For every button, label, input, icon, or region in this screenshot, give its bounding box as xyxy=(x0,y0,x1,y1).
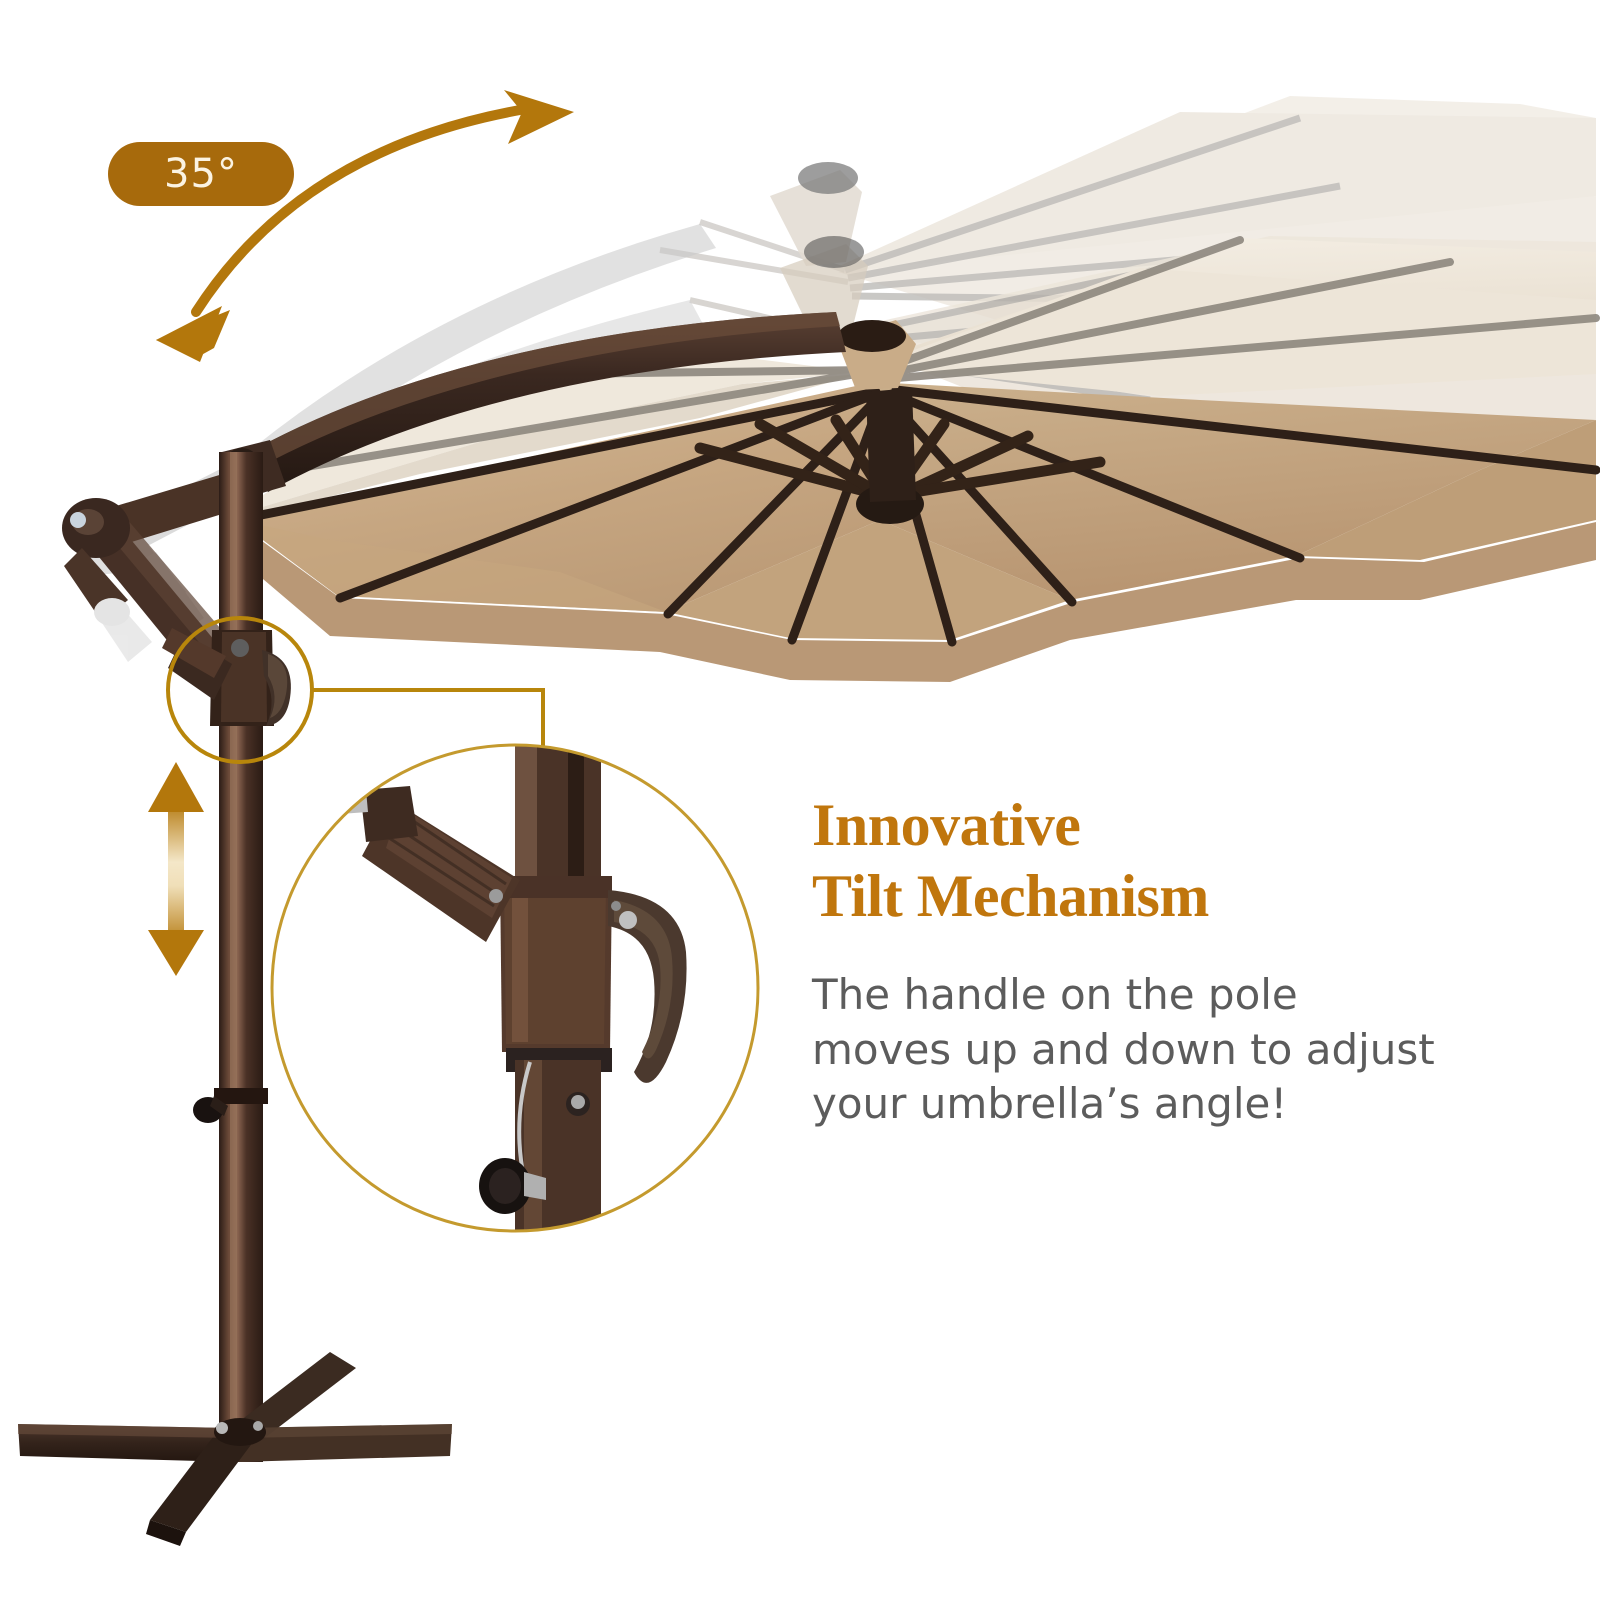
cantilever-arm xyxy=(62,312,846,688)
feature-description-line-2: moves up and down to adjust xyxy=(812,1023,1422,1078)
umbrella-pole xyxy=(162,452,291,1462)
feature-description-line-3: your umbrella’s angle! xyxy=(812,1077,1422,1132)
callout-leader-line xyxy=(312,690,543,772)
tilt-angle-badge: 35° xyxy=(108,142,294,206)
ghost-cantilever-arms xyxy=(76,224,716,662)
tilt-handle-magnifier xyxy=(272,740,758,1260)
infographic-canvas: 35° Innovative Tilt Mechanism The handle… xyxy=(0,0,1600,1600)
umbrella-cross-base xyxy=(18,1352,452,1546)
ghost-canopy-upper xyxy=(660,96,1596,330)
feature-description-line-1: The handle on the pole xyxy=(812,968,1422,1023)
tilt-range-arc-arrow xyxy=(156,90,574,362)
tilt-handle-highlight xyxy=(168,618,312,762)
feature-heading: Innovative Tilt Mechanism xyxy=(812,790,1432,932)
feature-description: The handle on the pole moves up and down… xyxy=(812,968,1422,1132)
tilt-angle-label: 35° xyxy=(164,154,238,194)
umbrella-canopy xyxy=(232,238,1596,682)
feature-heading-line-2: Tilt Mechanism xyxy=(812,861,1432,932)
ghost-canopy-mid xyxy=(650,236,1596,420)
height-adjust-arrow xyxy=(148,762,204,976)
feature-heading-line-1: Innovative xyxy=(812,792,1080,858)
